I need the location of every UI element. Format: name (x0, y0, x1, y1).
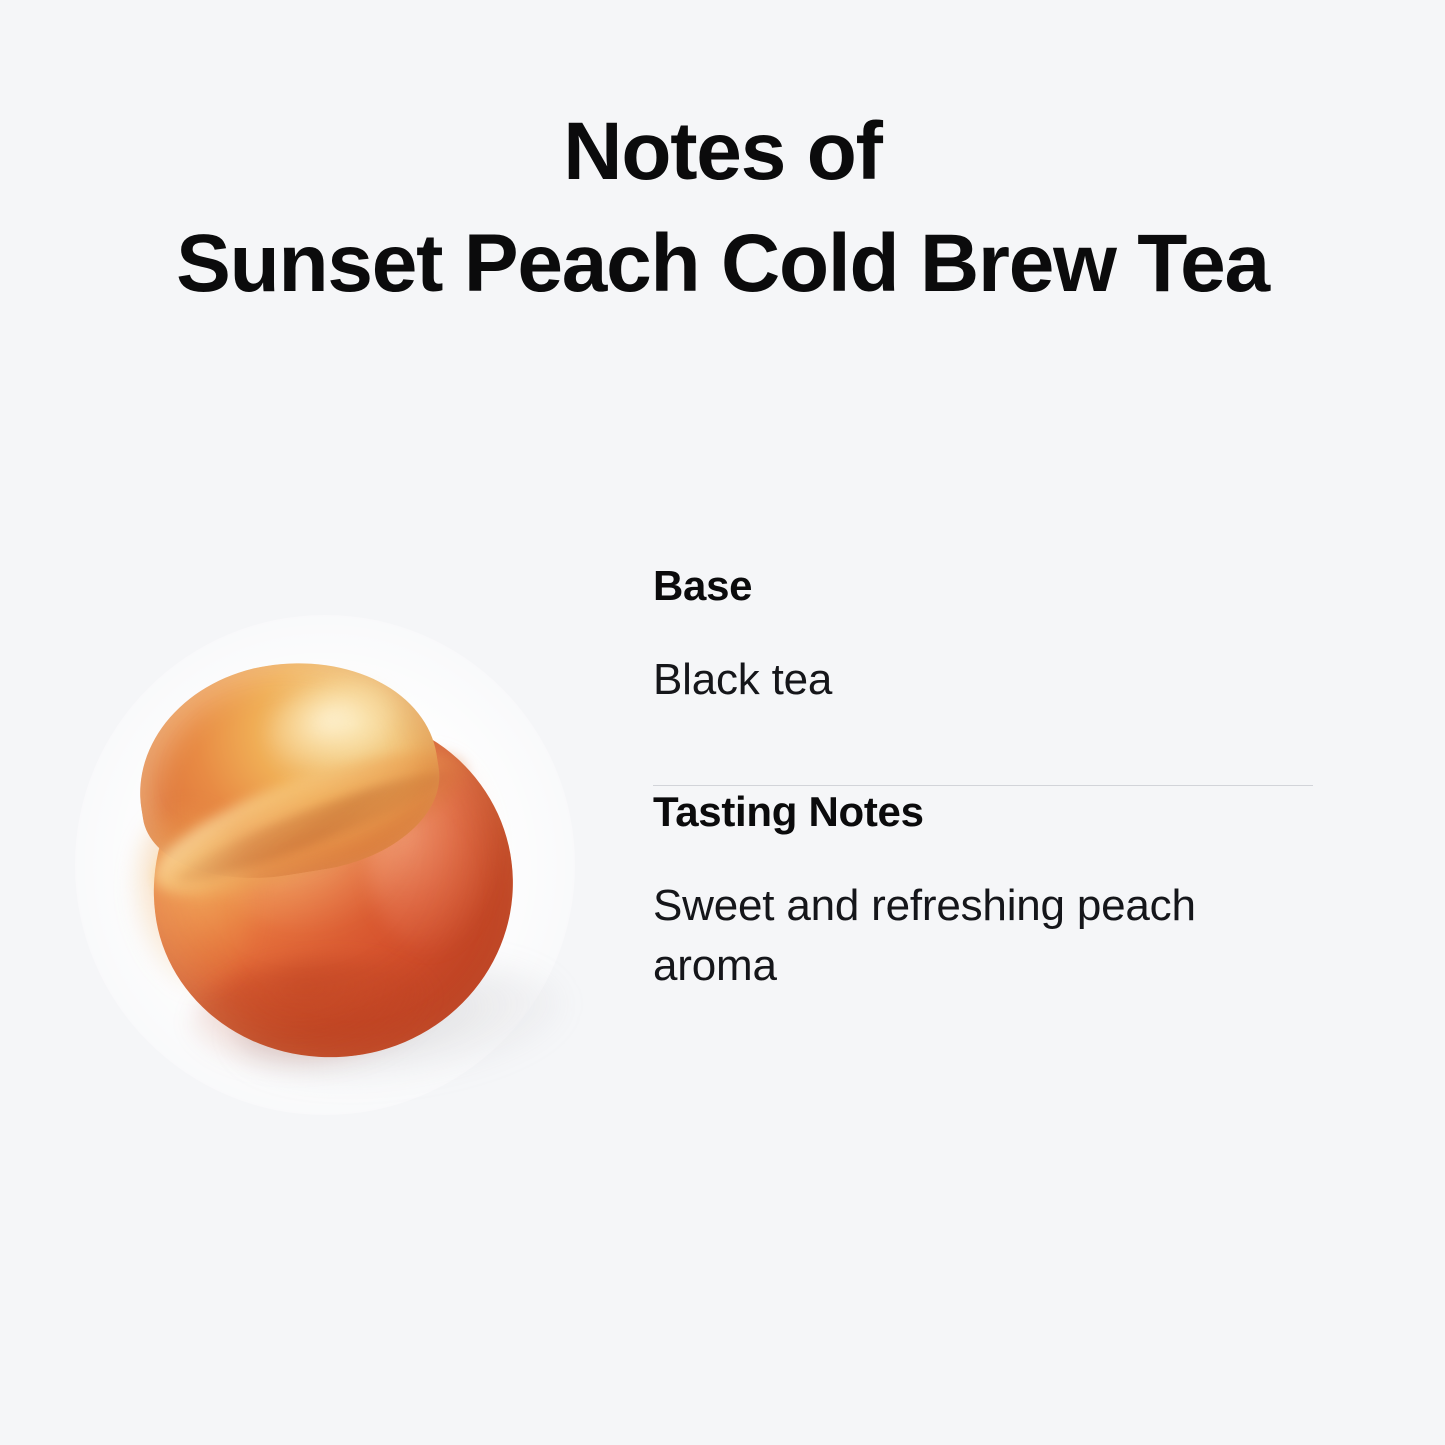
product-notes-card: Notes of Sunset Peach Cold Brew Tea (0, 0, 1445, 1445)
note-section-tasting-notes: Tasting Notes Sweet and refreshing peach… (653, 786, 1313, 996)
page-title-line-2: Sunset Peach Cold Brew Tea (0, 208, 1445, 320)
note-heading-tasting-notes: Tasting Notes (653, 786, 1313, 838)
note-heading-base: Base (653, 560, 1313, 612)
product-image-pane (60, 600, 605, 1120)
notes-list: Base Black tea Tasting Notes Sweet and r… (653, 560, 1313, 996)
page-title-line-1: Notes of (0, 96, 1445, 208)
note-value-tasting-notes: Sweet and refreshing peach aroma (653, 876, 1253, 996)
notes-body: Base Black tea Tasting Notes Sweet and r… (0, 560, 1445, 1180)
page-title: Notes of Sunset Peach Cold Brew Tea (0, 96, 1445, 320)
peach-icon (115, 660, 535, 1060)
note-value-base: Black tea (653, 650, 1253, 710)
note-section-base: Base Black tea (653, 560, 1313, 710)
